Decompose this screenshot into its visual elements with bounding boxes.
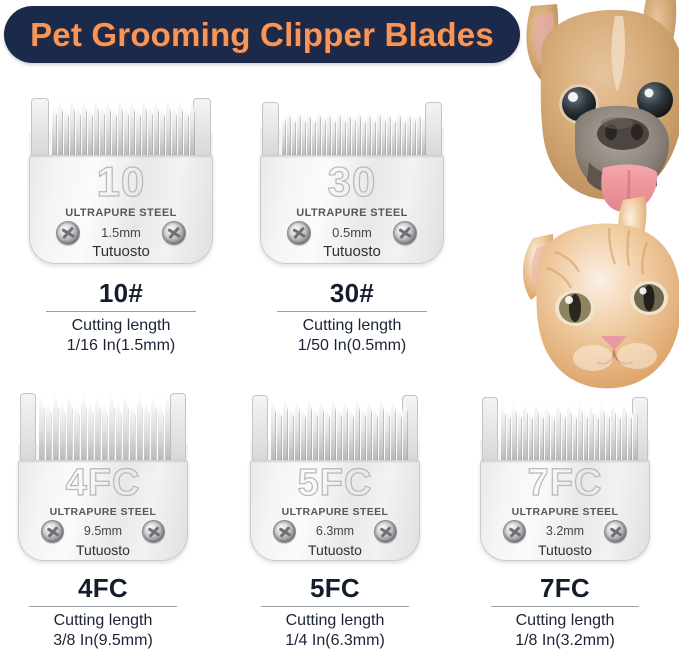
blade-figure-0: 10 ULTRAPURE STEEL 1.5mm Tutuosto [29,95,213,264]
blade-teeth-1 [260,95,444,155]
blade-etch-steel-4: ULTRAPURE STEEL [481,506,649,518]
caption-cutting-value-4: 1/8 In(3.2mm) [491,631,639,651]
caption-divider-1 [277,311,427,312]
blade-etch-mm-3: 6.3mm [251,524,419,538]
blade-body-4: 7FC ULTRAPURE STEEL 3.2mm Tutuosto [480,460,650,561]
product-card-2[interactable]: 4FC ULTRAPURE STEEL 9.5mm Tutuosto 4FC C… [8,388,198,651]
caption-divider-3 [261,606,409,607]
product-card-3[interactable]: 5FC ULTRAPURE STEEL 6.3mm Tutuosto 5FC C… [240,388,430,651]
blade-etch-steel-2: ULTRAPURE STEEL [19,506,187,518]
blade-etch-number-3: 5FC [251,464,419,502]
blade-figure-2: 4FC ULTRAPURE STEEL 9.5mm Tutuosto [18,388,188,561]
blade-body-0: 10 ULTRAPURE STEEL 1.5mm Tutuosto [29,155,213,264]
blade-etch-mm-4: 3.2mm [481,524,649,538]
blade-etch-brand-2: Tutuosto [19,542,187,558]
caption-cutting-value-1: 1/50 In(0.5mm) [277,336,427,356]
blade-etch-brand-3: Tutuosto [251,542,419,558]
blade-etch-steel-1: ULTRAPURE STEEL [261,207,443,219]
caption-cutting-value-3: 1/4 In(6.3mm) [261,631,409,651]
blade-body-1: 30 ULTRAPURE STEEL 0.5mm Tutuosto [260,155,444,264]
caption-divider-2 [29,606,177,607]
blade-body-2: 4FC ULTRAPURE STEEL 9.5mm Tutuosto [18,460,188,561]
blade-etch-brand-1: Tutuosto [261,243,443,260]
product-caption-3: 5FC Cutting length 1/4 In(6.3mm) [261,573,409,651]
caption-divider-0 [46,311,196,312]
product-card-1[interactable]: 30 ULTRAPURE STEEL 0.5mm Tutuosto 30# Cu… [247,95,457,356]
blade-etch-steel-0: ULTRAPURE STEEL [30,207,212,219]
caption-title-4: 7FC [491,573,639,603]
caption-cutting-label-0: Cutting length [46,316,196,336]
blade-figure-1: 30 ULTRAPURE STEEL 0.5mm Tutuosto [260,95,444,264]
product-card-4[interactable]: 7FC ULTRAPURE STEEL 3.2mm Tutuosto 7FC C… [470,388,660,651]
caption-cutting-label-4: Cutting length [491,611,639,631]
blade-etch-number-0: 10 [30,161,212,203]
blade-etch-mm-1: 0.5mm [261,225,443,240]
product-card-0[interactable]: 10 ULTRAPURE STEEL 1.5mm Tutuosto 10# Cu… [16,95,226,356]
blade-teeth-4 [480,388,650,460]
caption-cutting-label-3: Cutting length [261,611,409,631]
blade-teeth-3 [250,388,420,460]
blade-etch-mm-2: 9.5mm [19,524,187,538]
product-row-top: 10 ULTRAPURE STEEL 1.5mm Tutuosto 10# Cu… [0,95,679,360]
caption-cutting-label-1: Cutting length [277,316,427,336]
blade-teeth-2 [18,388,188,460]
blade-etch-steel-3: ULTRAPURE STEEL [251,506,419,518]
caption-cutting-label-2: Cutting length [29,611,177,631]
caption-title-0: 10# [46,278,196,308]
page-title: Pet Grooming Clipper Blades [30,16,494,54]
caption-title-2: 4FC [29,573,177,603]
blade-body-3: 5FC ULTRAPURE STEEL 6.3mm Tutuosto [250,460,420,561]
product-caption-1: 30# Cutting length 1/50 In(0.5mm) [277,278,427,356]
blade-teeth-0 [29,95,213,155]
caption-title-3: 5FC [261,573,409,603]
product-row-bottom: 4FC ULTRAPURE STEEL 9.5mm Tutuosto 4FC C… [0,388,679,642]
blade-etch-brand-0: Tutuosto [30,243,212,260]
product-caption-0: 10# Cutting length 1/16 In(1.5mm) [46,278,196,356]
blade-etch-number-4: 7FC [481,464,649,502]
caption-divider-4 [491,606,639,607]
caption-title-1: 30# [277,278,427,308]
blade-etch-number-2: 4FC [19,464,187,502]
blade-etch-number-1: 30 [261,161,443,203]
header-banner: Pet Grooming Clipper Blades [4,6,520,63]
blade-figure-4: 7FC ULTRAPURE STEEL 3.2mm Tutuosto [480,388,650,561]
caption-cutting-value-2: 3/8 In(9.5mm) [29,631,177,651]
caption-cutting-value-0: 1/16 In(1.5mm) [46,336,196,356]
blade-etch-brand-4: Tutuosto [481,542,649,558]
blade-figure-3: 5FC ULTRAPURE STEEL 6.3mm Tutuosto [250,388,420,561]
product-caption-2: 4FC Cutting length 3/8 In(9.5mm) [29,573,177,651]
product-caption-4: 7FC Cutting length 1/8 In(3.2mm) [491,573,639,651]
blade-etch-mm-0: 1.5mm [30,225,212,240]
